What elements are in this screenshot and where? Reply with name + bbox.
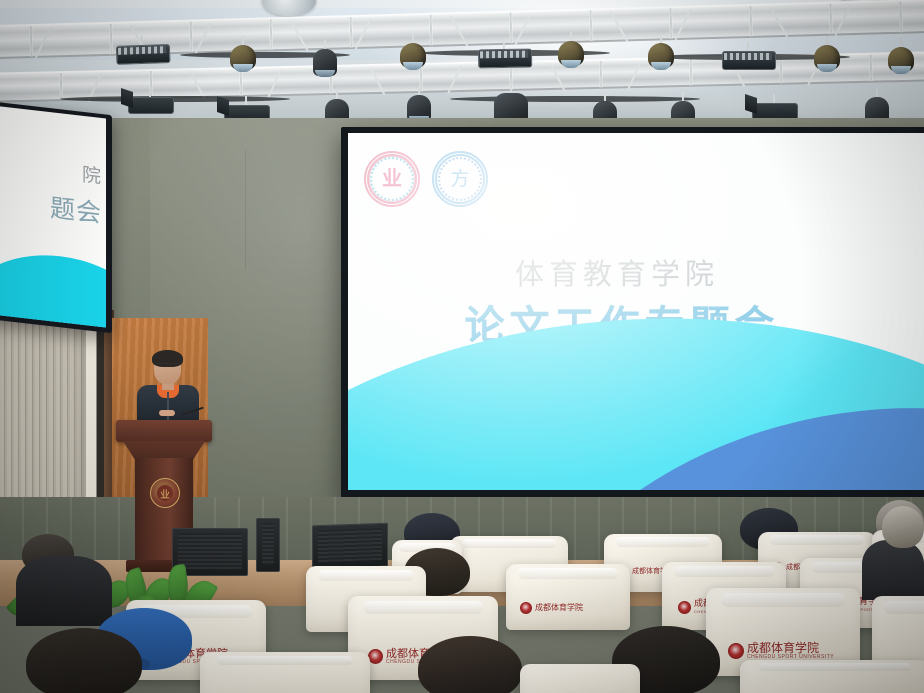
slide-title-line1: 体育教育学院 (348, 251, 924, 293)
stage-light-par (228, 36, 258, 70)
chair-logo-cn: 成都体育学院 (747, 642, 834, 654)
main-led-screen-frame: 业 方 体育教育学院 论文工作专题会 二零二四年十二月三日 (341, 127, 924, 498)
presenter-hand (159, 410, 175, 416)
audience-chair: 成都体育学院 (506, 564, 630, 630)
audience-shoulders (862, 540, 924, 600)
audience-chair (740, 660, 924, 693)
institute-seal-glyph: 方 (443, 162, 477, 196)
slide-logo-row: 业 方 (364, 151, 488, 207)
side-monitor-text-line1: 院 (82, 160, 102, 189)
stage-floor-monitor (312, 523, 388, 570)
audience-head (882, 506, 924, 548)
stage-light-bar (722, 42, 774, 68)
side-monitor-screen: 院 题会 (0, 105, 106, 327)
stage-light-bar (478, 40, 530, 67)
stage-light-par (812, 36, 842, 70)
presenter-glasses-icon (157, 363, 179, 369)
stage-light-flood (128, 88, 172, 112)
audience-chair (520, 664, 640, 693)
podium-crest-icon: 业 (150, 478, 180, 508)
stage-light-par (556, 32, 586, 66)
institute-seal-icon: 方 (432, 151, 488, 207)
stage-light-par (646, 34, 676, 68)
audience-shoulders (16, 556, 112, 626)
presenter-person (137, 352, 199, 424)
stage-light-bar (116, 35, 169, 63)
side-monitor: 院 题会 (0, 101, 112, 333)
university-seal-icon: 业 (364, 151, 420, 207)
side-monitor-wave-cyan (0, 244, 106, 328)
stage-light-fresnel (310, 40, 340, 76)
stage-light-fresnel (490, 84, 532, 120)
stage-light-flood (752, 94, 796, 118)
audience-head (418, 636, 522, 693)
main-led-screen[interactable]: 业 方 体育教育学院 论文工作专题会 二零二四年十二月三日 (348, 133, 924, 490)
stage-light-par (886, 38, 916, 72)
chair-logo-cn: 成都体育学院 (535, 604, 583, 612)
stage-floor-monitor (256, 518, 280, 572)
cable (450, 96, 700, 102)
side-monitor-text-line2: 题会 (50, 188, 102, 230)
podium-top (116, 420, 212, 442)
audience-head (26, 628, 142, 693)
wall-seam (245, 150, 246, 270)
stage-light-flood (224, 96, 268, 120)
stage-light-fresnel (404, 86, 434, 122)
university-seal-glyph: 业 (375, 162, 409, 196)
podium-slope (123, 441, 205, 459)
stage-light-par (398, 34, 428, 68)
audience-chair (200, 652, 370, 693)
conference-hall-photo: 院 题会 业 方 体育教育学院 论文工作专题会 二零二四年十二月三日 (0, 0, 924, 693)
podium-crest-glyph: 业 (157, 485, 173, 501)
